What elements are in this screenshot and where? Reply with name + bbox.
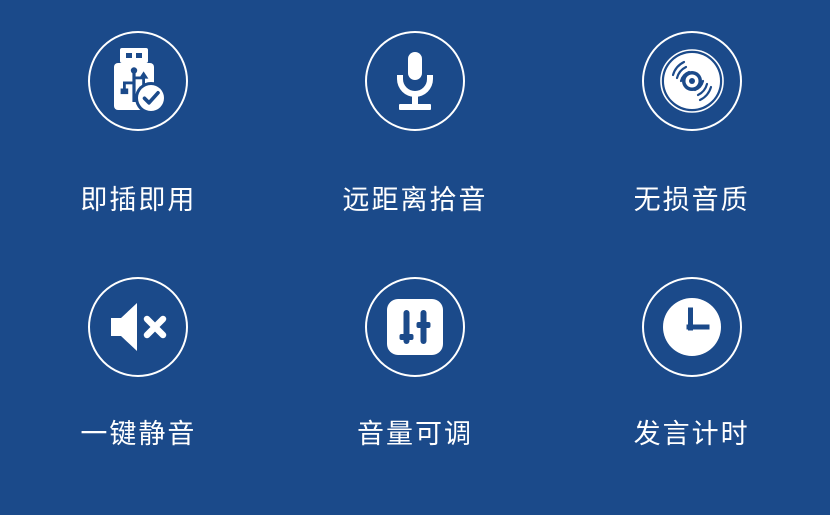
clock-icon <box>642 277 742 377</box>
feature-item-speech-timer[interactable]: 发言计时 <box>553 248 830 448</box>
feature-label: 一键静音 <box>80 377 196 448</box>
feature-grid: 即插即用 远距离拾音 <box>0 0 830 515</box>
vinyl-record-icon <box>642 31 742 131</box>
feature-item-adjustable-volume[interactable]: 音量可调 <box>277 248 554 448</box>
feature-label: 音量可调 <box>357 377 473 448</box>
usb-drive-check-icon <box>88 31 188 131</box>
feature-board: 即插即用 远距离拾音 <box>0 0 830 515</box>
feature-item-long-distance-pickup[interactable]: 远距离拾音 <box>277 0 554 214</box>
feature-item-plug-and-play[interactable]: 即插即用 <box>0 0 277 214</box>
microphone-icon <box>365 31 465 131</box>
feature-label: 远距离拾音 <box>342 131 487 214</box>
feature-item-lossless-audio[interactable]: 无损音质 <box>553 0 830 214</box>
feature-label: 发言计时 <box>634 377 750 448</box>
feature-item-one-key-mute[interactable]: 一键静音 <box>0 248 277 448</box>
feature-label: 无损音质 <box>634 131 750 214</box>
feature-label: 即插即用 <box>80 131 196 214</box>
speaker-mute-icon <box>88 277 188 377</box>
volume-sliders-icon <box>365 277 465 377</box>
